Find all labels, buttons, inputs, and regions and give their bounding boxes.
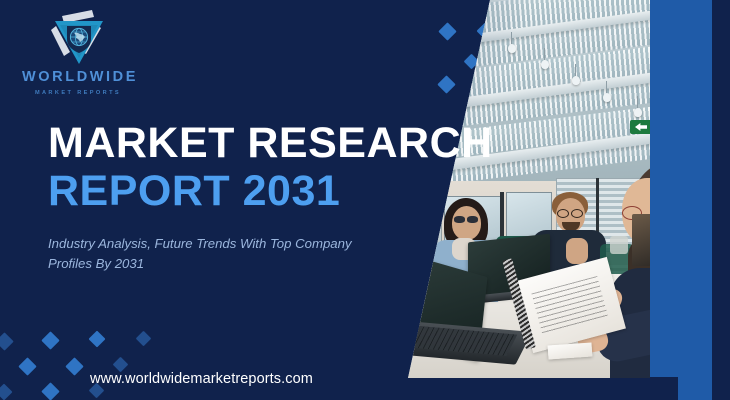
accent-band-edge [712,0,730,400]
brand-name: WORLDWIDE [22,70,134,85]
emergency-exit-icon [630,120,652,134]
headline-line-2: REPORT 2031 [48,170,468,214]
subheadline: Industry Analysis, Future Trends With To… [48,234,368,274]
pendant-light [572,76,580,85]
headline-line-1: MARKET RESEARCH [48,122,468,166]
diamond-icon [136,331,152,347]
pendant-light [508,44,516,53]
pendant-light [541,60,549,69]
diamond-icon [0,384,12,400]
diamond-icon [18,357,36,375]
page-title: MARKET RESEARCH REPORT 2031 [48,122,468,214]
diamond-icon [438,22,456,40]
pendant-light [603,93,611,102]
website-url[interactable]: www.worldwidemarketreports.com [90,371,313,387]
marketing-banner: WORLDWIDE MARKET REPORTS MARKET RESEARCH… [0,0,730,400]
accent-band-notch [650,377,678,400]
diamond-icon [113,357,129,373]
pendant-light [634,108,642,117]
diamond-icon [41,382,59,400]
worldwide-triangle-globe-logo-icon [48,8,110,70]
diamond-icon [65,357,83,375]
brand-tagline: MARKET REPORTS [22,90,134,96]
desk-object [610,236,628,254]
diamond-icon [437,75,455,93]
diamond-icon [0,332,14,350]
diamond-icon [89,331,106,348]
diamond-icon [41,331,59,349]
brand-logo: WORLDWIDE MARKET REPORTS [22,8,134,106]
